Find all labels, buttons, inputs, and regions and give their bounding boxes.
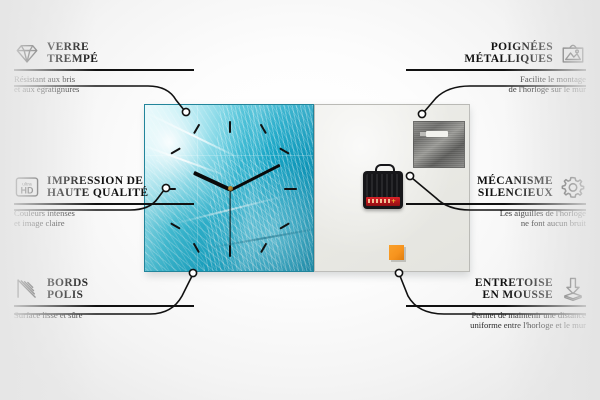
- feature-sub-line2: uniforme entre l'horloge et le mur: [406, 320, 586, 331]
- feature-header: ultra HD IMPRESSION DE HAUTE QUALITÉ: [14, 174, 194, 200]
- feature-header: ENTRETOISE EN MOUSSE: [406, 276, 586, 302]
- feature-entretoise-en-mousse: ENTRETOISE EN MOUSSE Permet de maintenir…: [406, 276, 586, 331]
- divider: [406, 203, 586, 205]
- feature-title: ENTRETOISE EN MOUSSE: [475, 277, 553, 302]
- clock-hub: [228, 186, 233, 191]
- feature-sub-line2: et aux égratignures: [14, 84, 194, 95]
- feature-sub-line1: Surface lisse et sûre: [14, 310, 194, 321]
- diamond-icon: [14, 40, 40, 66]
- hour-mark: [284, 188, 297, 190]
- feature-title: BORDS POLIS: [47, 277, 88, 302]
- foam-spacer: [389, 245, 404, 260]
- battery: +: [366, 197, 400, 206]
- divider: [14, 203, 194, 205]
- feature-header: BORDS POLIS: [14, 276, 194, 302]
- hanger-slot: [426, 131, 448, 137]
- feature-impression-haute-qualite: ultra HD IMPRESSION DE HAUTE QUALITÉ Cou…: [14, 174, 194, 229]
- hour-mark: [229, 121, 231, 133]
- feature-title: MÉCANISME SILENCIEUX: [477, 175, 553, 200]
- hanger-texture: [414, 122, 464, 167]
- infographic-canvas: +: [0, 0, 600, 400]
- feature-sub-line1: Les aiguilles de l'horloge: [406, 208, 586, 219]
- feature-sub-line1: Permet de maintenir une distance: [406, 310, 586, 321]
- feature-sub-line1: Facilite le montage: [406, 74, 586, 85]
- battery-plus-icon: +: [390, 198, 397, 205]
- metal-hanger: [413, 121, 465, 168]
- feature-poignees-metalliques: POIGNÉES MÉTALLIQUES Facilite le montage…: [406, 40, 586, 95]
- feature-title: POIGNÉES MÉTALLIQUES: [464, 41, 553, 66]
- bevel-edge-icon: [14, 276, 40, 302]
- feature-sub-line1: Résistant aux bris: [14, 74, 194, 85]
- ultra-hd-icon: ultra HD: [14, 174, 40, 200]
- feature-title: IMPRESSION DE HAUTE QUALITÉ: [47, 175, 148, 200]
- divider: [14, 69, 194, 71]
- divider: [406, 305, 586, 307]
- feature-header: VERRE TREMPÉ: [14, 40, 194, 66]
- feature-title: VERRE TREMPÉ: [47, 41, 98, 66]
- feature-sub-line2: et image claire: [14, 218, 194, 229]
- ultra-hd-icon-bottom: HD: [21, 186, 34, 196]
- feature-verre-trempe: VERRE TREMPÉ Résistant aux bris et aux é…: [14, 40, 194, 95]
- feature-mecanisme-silencieux: MÉCANISME SILENCIEUX Les aiguilles de l'…: [406, 174, 586, 229]
- divider: [14, 305, 194, 307]
- gear-icon: [560, 174, 586, 200]
- feature-sub-line2: ne font aucun bruit: [406, 218, 586, 229]
- clock-mechanism: +: [363, 171, 403, 209]
- wall-mount-frame-icon: [560, 40, 586, 66]
- battery-label: [368, 199, 390, 203]
- feature-header: MÉCANISME SILENCIEUX: [406, 174, 586, 200]
- feature-sub-line2: de l'horloge sur le mur: [406, 84, 586, 95]
- feature-bords-polis: BORDS POLIS Surface lisse et sûre: [14, 276, 194, 320]
- feature-header: POIGNÉES MÉTALLIQUES: [406, 40, 586, 66]
- second-hand: [229, 190, 230, 248]
- down-arrow-pad-icon: [560, 276, 586, 302]
- mechanism-texture: [366, 174, 400, 197]
- feature-sub-line1: Couleurs intenses: [14, 208, 194, 219]
- divider: [406, 69, 586, 71]
